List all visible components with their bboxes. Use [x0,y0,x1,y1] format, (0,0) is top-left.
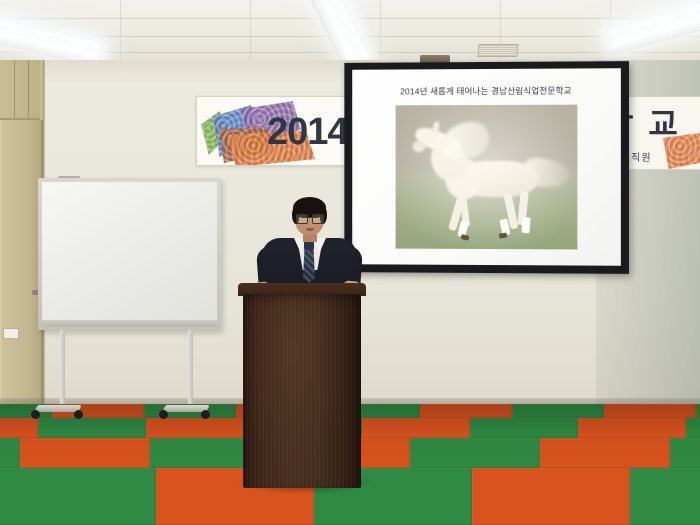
slide-title: 2014년 새롭게 태어나는 경남산림식업전문학교 [352,84,621,97]
floor-tile [578,418,686,438]
ceiling-tile-seam [380,0,381,60]
floor-tile [0,468,156,525]
floor-tile [38,418,146,438]
whiteboard-caster [31,410,40,419]
whiteboard-marker-tray [42,320,217,327]
ceiling-tile-seam [120,0,121,60]
cupboard-seam [14,60,15,118]
floor-tile [512,404,604,418]
presenter-tie [303,249,315,283]
projection-screen: 2014년 새롭게 태어나는 경남산림식업전문학교 [344,61,629,274]
floor-tile [410,438,540,468]
photo-scene: 2014 방 교 교 교직원 2014년 새롭게 태어나는 경남산림식업전문학교 [0,0,700,525]
whiteboard-surface[interactable] [42,182,217,320]
presenter-tie-knot [304,241,314,250]
whiteboard-stand-post [60,330,65,408]
floor-tile [0,438,20,468]
glasses-lens [312,214,324,224]
whiteboard-caster [74,410,83,419]
glasses-lens [296,214,308,224]
upper-cupboard [0,60,40,120]
floor-tile [686,418,700,438]
floor-tile [146,418,254,438]
floor-tile [540,438,670,468]
floor-tile [696,404,700,418]
whiteboard-caster [159,410,168,419]
presentation-slide: 2014년 새롭게 태어나는 경남산림식업전문학교 [352,68,621,266]
wooden-door[interactable] [1,120,43,410]
door-sign [3,328,19,339]
banner-left: 2014 [196,96,358,166]
ceiling-air-vent [477,44,518,57]
floor-tile [630,468,700,525]
whiteboard-stand-post [188,330,193,408]
slide-horse-photo [396,105,578,250]
banner-year-text: 2014 [267,113,348,151]
podium-front-highlight [247,296,357,484]
floor-tile [472,468,630,525]
floor-tile [362,418,470,438]
cupboard-seam [28,60,29,118]
ceiling-tile-seam [250,0,251,60]
floor-tile [604,404,696,418]
whiteboard [38,178,221,330]
floor-tile [420,404,512,418]
floor-tile [20,438,150,468]
floor-tile [670,438,700,468]
floor-tile [0,418,38,438]
presenter-glasses-icon [296,214,323,222]
floor-tile [470,418,578,438]
whiteboard-caster [201,410,210,419]
photo-overexposure-wash [396,105,578,250]
